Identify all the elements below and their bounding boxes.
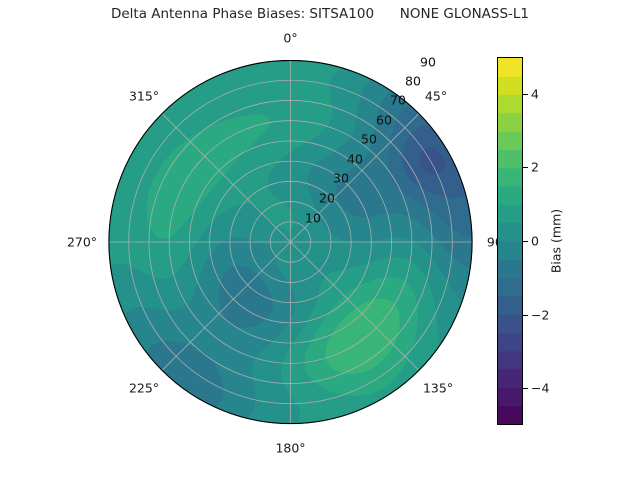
page-title: Delta Antenna Phase Biases: SITSA100 NON…: [0, 6, 640, 22]
colorbar-axis-label: Bias (mm): [549, 209, 564, 273]
colorbar-tick-label: 0: [531, 234, 539, 249]
angular-tick-label-180: 180°: [275, 441, 305, 456]
colorbar-tick-mark: [523, 388, 528, 389]
polar-plot: 0°45°90°135°180°225°270°315° 10203040506…: [108, 60, 473, 425]
radial-tick-label-30: 30: [333, 171, 349, 186]
colorbar-tick-mark: [523, 94, 528, 95]
angular-tick-label-225: 225°: [129, 381, 159, 396]
radial-tick-label-80: 80: [405, 74, 421, 89]
colorbar-tick-label: 4: [531, 86, 539, 101]
colorbar-tick-mark: [523, 315, 528, 316]
colorbar-tick-label: 2: [531, 160, 539, 175]
colorbar-tick-mark: [523, 241, 528, 242]
radial-tick-label-40: 40: [347, 152, 363, 167]
radial-tick-label-90: 90: [420, 55, 436, 70]
radial-tick-label-50: 50: [361, 132, 377, 147]
angular-tick-label-135: 135°: [423, 381, 453, 396]
figure-canvas: Delta Antenna Phase Biases: SITSA100 NON…: [0, 0, 640, 480]
radial-tick-label-70: 70: [390, 93, 406, 108]
colorbar-tick-label: −4: [531, 381, 549, 396]
radial-tick-label-20: 20: [319, 191, 335, 206]
angular-tick-label-315: 315°: [129, 89, 159, 104]
colorbar: 420−2−4: [497, 57, 523, 425]
radial-tick-label-60: 60: [376, 113, 392, 128]
colorbar-tick-mark: [523, 167, 528, 168]
angular-tick-label-45: 45°: [425, 89, 447, 104]
colorbar-tick-label: −2: [531, 307, 549, 322]
radial-tick-label-10: 10: [305, 211, 321, 226]
angular-tick-label-270: 270°: [67, 235, 97, 250]
polar-heatmap-canvas: [108, 60, 473, 425]
angular-tick-label-0: 0°: [283, 31, 297, 46]
colorbar-gradient: [497, 57, 523, 425]
